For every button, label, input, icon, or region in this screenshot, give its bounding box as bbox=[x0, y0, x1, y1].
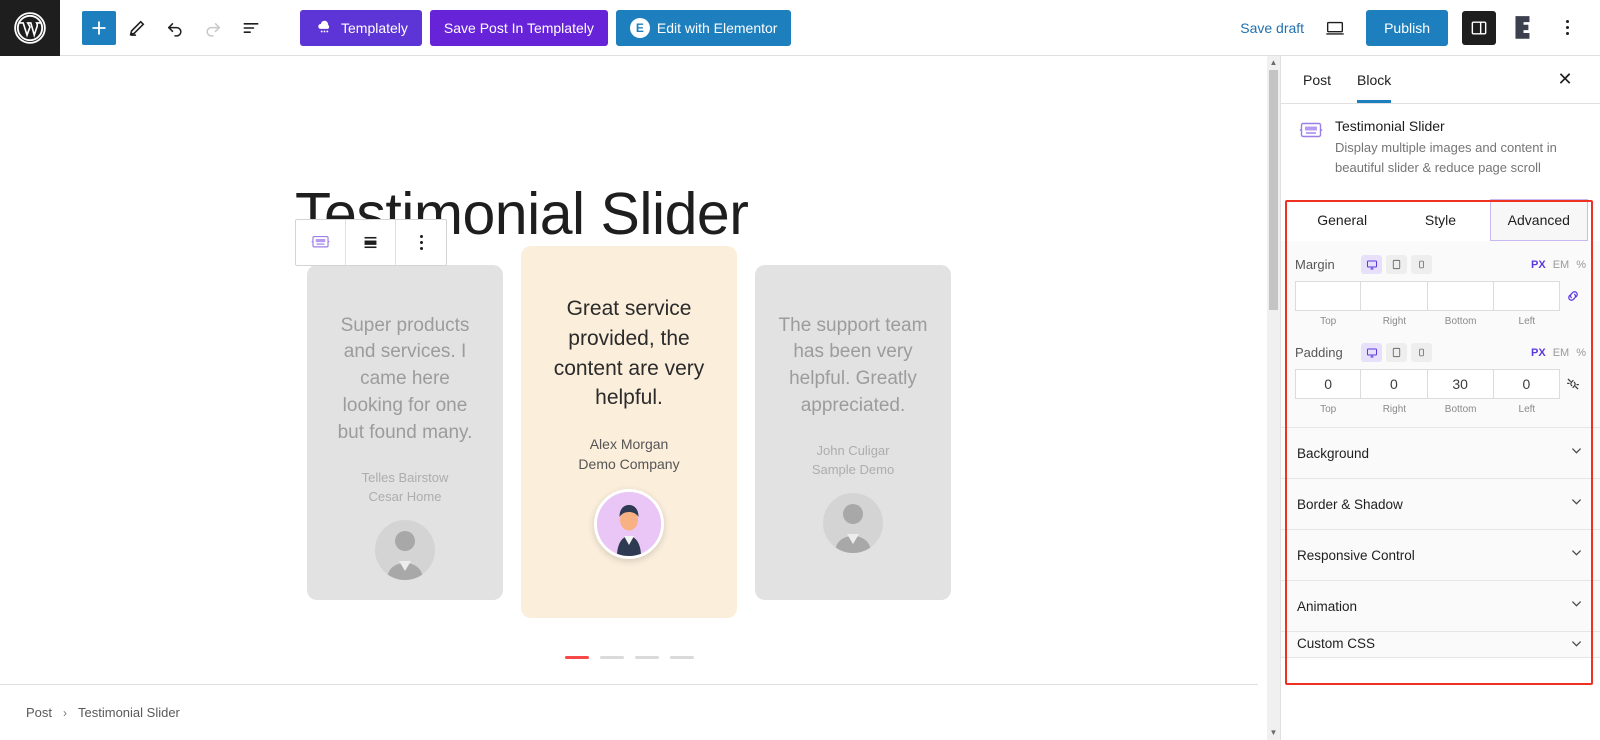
advanced-accordions: Background Border & Shadow Responsive Co… bbox=[1281, 427, 1600, 658]
save-draft-button[interactable]: Save draft bbox=[1240, 20, 1304, 36]
accordion-label: Custom CSS bbox=[1297, 636, 1375, 651]
margin-inputs: Top Right Bottom Left bbox=[1295, 281, 1586, 327]
close-icon[interactable]: ✕ bbox=[1552, 67, 1578, 93]
unit-em[interactable]: EM bbox=[1553, 347, 1570, 359]
margin-left-input[interactable] bbox=[1494, 281, 1560, 311]
padding-unit-switcher: PX EM % bbox=[1531, 347, 1586, 359]
testimonial-author: John Culigar Sample Demo bbox=[812, 442, 894, 479]
dot bbox=[420, 247, 423, 250]
link-icon[interactable] bbox=[1560, 281, 1586, 311]
elementor-badge-icon: E bbox=[630, 18, 650, 38]
dot bbox=[1566, 26, 1569, 29]
breadcrumb-item-block[interactable]: Testimonial Slider bbox=[78, 705, 180, 720]
margin-right-input[interactable] bbox=[1361, 281, 1427, 311]
block-info: Testimonial Slider Display multiple imag… bbox=[1281, 104, 1600, 191]
tab-block[interactable]: Block bbox=[1357, 56, 1391, 103]
mobile-icon[interactable] bbox=[1411, 343, 1432, 362]
padding-label: Padding bbox=[1295, 345, 1353, 360]
pagination-dot[interactable] bbox=[670, 656, 694, 659]
author-name: Telles Bairstow bbox=[362, 469, 449, 487]
settings-sidebar: ▲ ▼ Post Block ✕ Testimonial Slider Disp… bbox=[1280, 56, 1600, 740]
spacing-controls: Margin PX EM % bbox=[1281, 241, 1600, 427]
pagination-dot[interactable] bbox=[565, 656, 589, 659]
accordion-background[interactable]: Background bbox=[1281, 428, 1600, 479]
more-options-icon[interactable] bbox=[396, 220, 446, 265]
block-floating-toolbar bbox=[295, 219, 447, 266]
settings-sidebar-toggle[interactable] bbox=[1462, 11, 1496, 45]
pagination-dot[interactable] bbox=[635, 656, 659, 659]
undo-button[interactable] bbox=[158, 11, 192, 45]
unit-percent[interactable]: % bbox=[1576, 259, 1586, 271]
mobile-icon[interactable] bbox=[1411, 255, 1432, 274]
redo-button[interactable] bbox=[196, 11, 230, 45]
padding-header: Padding PX EM % bbox=[1295, 343, 1586, 362]
tab-post[interactable]: Post bbox=[1303, 56, 1331, 103]
block-title: Testimonial Slider bbox=[1335, 118, 1580, 134]
tab-style[interactable]: Style bbox=[1391, 199, 1489, 241]
chevron-down-icon bbox=[1569, 545, 1584, 565]
plugin-buttons: Templately Save Post In Templately E Edi… bbox=[300, 10, 791, 46]
wordpress-block-editor: Templately Save Post In Templately E Edi… bbox=[0, 0, 1600, 740]
testimonial-author: Telles Bairstow Cesar Home bbox=[362, 469, 449, 506]
margin-unit-switcher: PX EM % bbox=[1531, 259, 1586, 271]
publish-button[interactable]: Publish bbox=[1366, 10, 1448, 46]
author-name: John Culigar bbox=[812, 442, 894, 460]
avatar bbox=[375, 520, 435, 580]
tablet-icon[interactable] bbox=[1386, 343, 1407, 362]
desktop-icon[interactable] bbox=[1361, 255, 1382, 274]
align-icon[interactable] bbox=[346, 220, 396, 265]
topbar-right-actions: Save draft Publish bbox=[1240, 10, 1600, 46]
accordion-label: Background bbox=[1297, 446, 1369, 461]
padding-bottom-caption: Bottom bbox=[1445, 404, 1477, 415]
breadcrumb-item-post[interactable]: Post bbox=[26, 705, 52, 720]
save-post-templately-button[interactable]: Save Post In Templately bbox=[430, 10, 608, 46]
essential-blocks-logo-icon[interactable] bbox=[1510, 13, 1538, 43]
testimonial-card[interactable]: Super products and services. I came here… bbox=[307, 265, 503, 600]
accordion-animation[interactable]: Animation bbox=[1281, 581, 1600, 632]
templately-label: Templately bbox=[341, 20, 408, 36]
dot bbox=[420, 241, 423, 244]
chevron-down-icon bbox=[1569, 443, 1584, 463]
scroll-down-arrow-icon[interactable]: ▼ bbox=[1270, 729, 1278, 737]
avatar bbox=[594, 489, 664, 559]
margin-top-input[interactable] bbox=[1295, 281, 1361, 311]
padding-inputs: Top Right Bottom Left bbox=[1295, 369, 1586, 415]
preview-button[interactable] bbox=[1318, 11, 1352, 45]
testimonial-slider-block-icon bbox=[1299, 119, 1323, 143]
margin-bottom-input[interactable] bbox=[1428, 281, 1494, 311]
save-templately-label: Save Post In Templately bbox=[444, 20, 594, 36]
testimonial-quote: Great service provided, the content are … bbox=[543, 294, 715, 413]
author-company: Cesar Home bbox=[362, 488, 449, 506]
tab-advanced[interactable]: Advanced bbox=[1490, 199, 1588, 241]
margin-right-caption: Right bbox=[1383, 316, 1406, 327]
tab-general[interactable]: General bbox=[1293, 199, 1391, 241]
templately-button[interactable]: Templately bbox=[300, 10, 422, 46]
block-type-icon[interactable] bbox=[296, 220, 346, 265]
testimonial-card-active[interactable]: Great service provided, the content are … bbox=[521, 246, 737, 618]
margin-label: Margin bbox=[1295, 257, 1353, 272]
padding-device-switcher bbox=[1361, 343, 1432, 362]
accordion-label: Responsive Control bbox=[1297, 548, 1415, 563]
editor-tools bbox=[60, 11, 268, 45]
testimonial-author: Alex Morgan Demo Company bbox=[578, 435, 679, 475]
padding-left-input[interactable] bbox=[1494, 369, 1560, 399]
unit-percent[interactable]: % bbox=[1576, 347, 1586, 359]
dot bbox=[1566, 32, 1569, 35]
dot bbox=[1566, 20, 1569, 23]
unit-px[interactable]: PX bbox=[1531, 347, 1546, 359]
padding-left-caption: Left bbox=[1519, 404, 1536, 415]
wordpress-logo-icon[interactable] bbox=[0, 0, 60, 56]
chevron-down-icon bbox=[1569, 596, 1584, 616]
link-broken-icon[interactable] bbox=[1560, 369, 1586, 399]
unit-px[interactable]: PX bbox=[1531, 259, 1546, 271]
editor-top-bar: Templately Save Post In Templately E Edi… bbox=[0, 0, 1600, 56]
accordion-border-shadow[interactable]: Border & Shadow bbox=[1281, 479, 1600, 530]
chevron-down-icon bbox=[1569, 494, 1584, 514]
templately-cloud-icon bbox=[314, 18, 334, 38]
margin-bottom-caption: Bottom bbox=[1445, 316, 1477, 327]
tablet-icon[interactable] bbox=[1386, 255, 1407, 274]
testimonial-card[interactable]: The support team has been very helpful. … bbox=[755, 265, 951, 600]
margin-top-caption: Top bbox=[1320, 316, 1336, 327]
breadcrumb-separator: › bbox=[63, 706, 67, 720]
accordion-custom-css[interactable]: Custom CSS bbox=[1281, 632, 1600, 658]
edit-with-elementor-button[interactable]: E Edit with Elementor bbox=[616, 10, 792, 46]
scroll-up-arrow-icon[interactable]: ▲ bbox=[1270, 59, 1278, 67]
padding-top-caption: Top bbox=[1320, 404, 1336, 415]
padding-right-caption: Right bbox=[1383, 404, 1406, 415]
testimonial-quote: The support team has been very helpful. … bbox=[777, 313, 929, 421]
margin-header: Margin PX EM % bbox=[1295, 255, 1586, 274]
sidebar-scrollbar[interactable]: ▲ ▼ bbox=[1267, 56, 1280, 740]
add-block-button[interactable] bbox=[82, 11, 116, 45]
chevron-down-icon bbox=[1569, 636, 1584, 656]
elementor-badge-letter: E bbox=[636, 21, 644, 35]
author-name: Alex Morgan bbox=[578, 435, 679, 455]
padding-top-input[interactable] bbox=[1295, 369, 1361, 399]
accordion-label: Border & Shadow bbox=[1297, 497, 1403, 512]
avatar bbox=[823, 493, 883, 553]
author-company: Demo Company bbox=[578, 455, 679, 475]
editor-canvas: Testimonial Slider bbox=[0, 56, 1258, 684]
testimonial-slider: Super products and services. I came here… bbox=[0, 246, 1258, 659]
dot bbox=[420, 235, 423, 238]
more-options-button[interactable] bbox=[1552, 11, 1582, 45]
unit-em[interactable]: EM bbox=[1553, 259, 1570, 271]
slider-pagination bbox=[0, 656, 1258, 659]
block-settings-tabs: General Style Advanced bbox=[1293, 199, 1588, 241]
desktop-icon[interactable] bbox=[1361, 343, 1382, 362]
sidebar-scrollbar-thumb[interactable] bbox=[1269, 70, 1278, 310]
testimonial-cards: Super products and services. I came here… bbox=[0, 246, 1258, 618]
accordion-label: Animation bbox=[1297, 599, 1357, 614]
sidebar-tabs: Post Block ✕ bbox=[1281, 56, 1600, 104]
padding-right-input[interactable] bbox=[1361, 369, 1427, 399]
margin-device-switcher bbox=[1361, 255, 1432, 274]
list-view-button[interactable] bbox=[234, 11, 268, 45]
margin-left-caption: Left bbox=[1519, 316, 1536, 327]
pagination-dot[interactable] bbox=[600, 656, 624, 659]
accordion-responsive-control[interactable]: Responsive Control bbox=[1281, 530, 1600, 581]
padding-bottom-input[interactable] bbox=[1428, 369, 1494, 399]
elementor-label: Edit with Elementor bbox=[657, 20, 778, 36]
testimonial-quote: Super products and services. I came here… bbox=[329, 313, 481, 448]
edit-tool-button[interactable] bbox=[120, 11, 154, 45]
breadcrumb: Post › Testimonial Slider bbox=[0, 684, 1258, 740]
author-company: Sample Demo bbox=[812, 461, 894, 479]
block-description: Display multiple images and content in b… bbox=[1335, 138, 1580, 177]
